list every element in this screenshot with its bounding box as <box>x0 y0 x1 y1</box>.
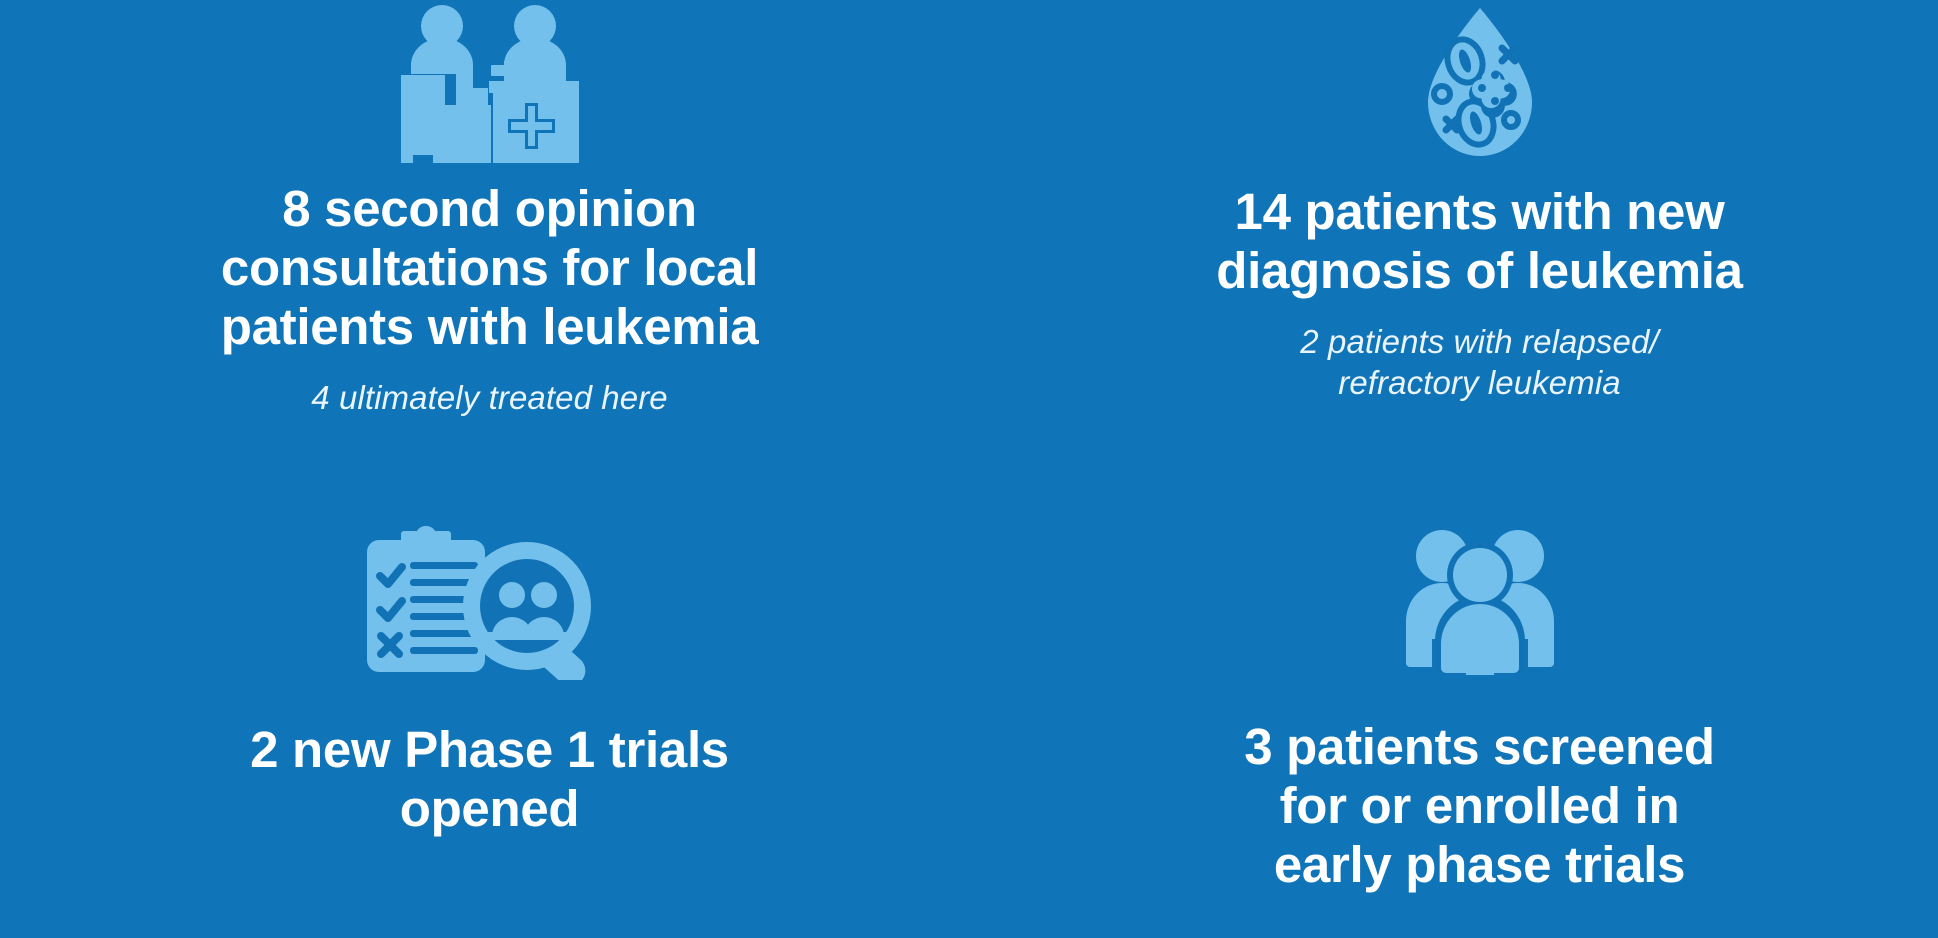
headline-line: 8 second opinion <box>221 179 759 238</box>
stat-card-second-opinion-consultations: 8 second opinion consultations for local… <box>0 0 969 500</box>
blood-drop-cells-icon <box>1420 6 1540 158</box>
headline-line: early phase trials <box>1244 835 1715 894</box>
stat-card-early-phase-trial-patients: 3 patients screened for or enrolled in e… <box>969 500 1938 938</box>
stat-card-new-leukemia-diagnoses: 14 patients with new diagnosis of leukem… <box>969 0 1938 500</box>
headline-line: 14 patients with new <box>1216 182 1743 241</box>
stats-grid: 8 second opinion consultations for local… <box>0 0 1938 938</box>
stat-headline: 8 second opinion consultations for local… <box>221 179 759 356</box>
headline-line: consultations for local <box>221 238 759 297</box>
headline-line: 3 patients screened <box>1244 717 1715 776</box>
leukemia-stats-infographic: 8 second opinion consultations for local… <box>0 0 1938 938</box>
doctor-patient-consultation-icon <box>401 3 579 163</box>
clipboard-magnifier-screening-icon <box>361 520 619 680</box>
people-group-icon <box>1400 525 1560 675</box>
subline-line: refractory leukemia <box>1300 363 1658 403</box>
headline-line: 2 new Phase 1 trials <box>250 720 729 779</box>
headline-line: opened <box>250 779 729 838</box>
stat-headline: 2 new Phase 1 trials opened <box>250 720 729 838</box>
stat-subline: 4 ultimately treated here <box>311 378 668 418</box>
stat-headline: 14 patients with new diagnosis of leukem… <box>1216 182 1743 300</box>
headline-line: for or enrolled in <box>1244 776 1715 835</box>
stat-subline: 2 patients with relapsed/ refractory leu… <box>1300 322 1658 403</box>
headline-line: patients with leukemia <box>221 297 759 356</box>
stat-card-new-phase-1-trials: 2 new Phase 1 trials opened <box>0 500 969 938</box>
subline-line: 2 patients with relapsed/ <box>1300 322 1658 362</box>
stat-headline: 3 patients screened for or enrolled in e… <box>1244 717 1715 894</box>
headline-line: diagnosis of leukemia <box>1216 241 1743 300</box>
subline-line: 4 ultimately treated here <box>311 378 668 418</box>
